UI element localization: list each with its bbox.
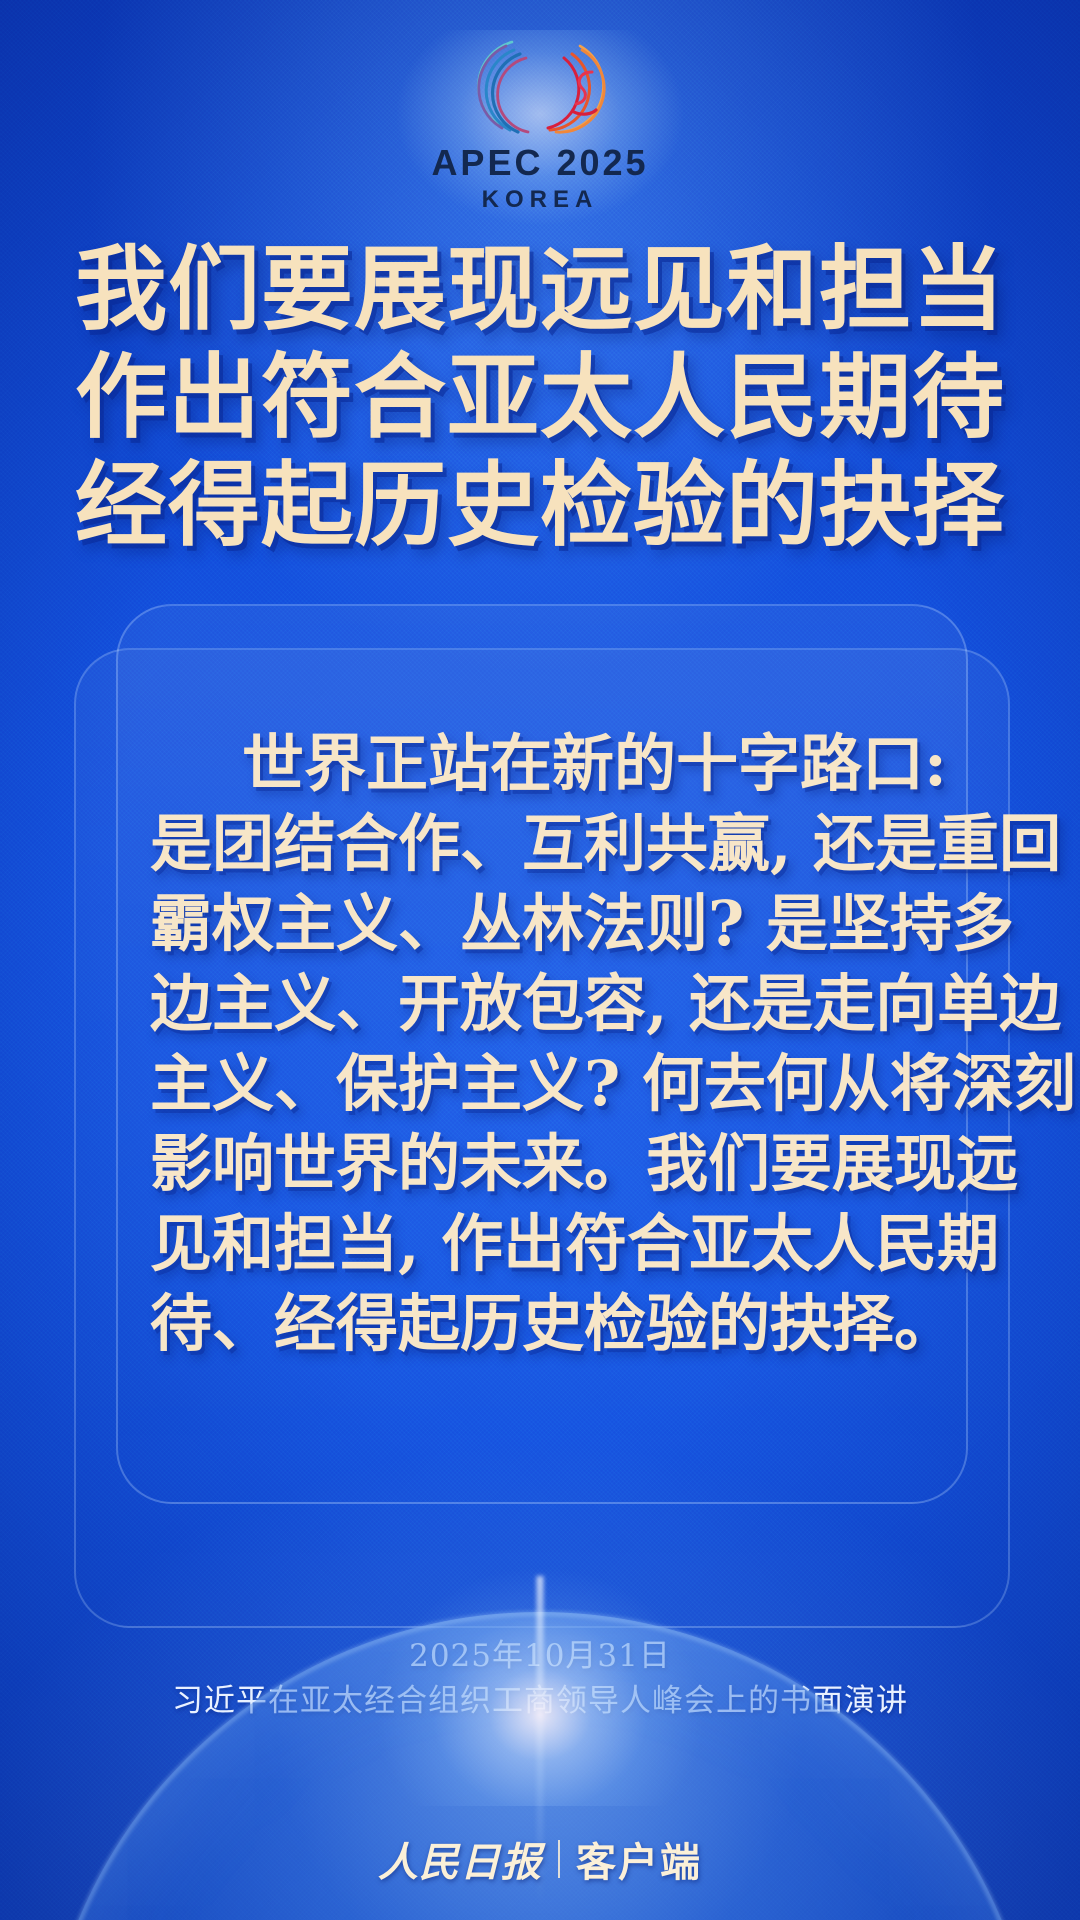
quote-line-6: 影响世界的未来。我们要展现远 [150,1124,940,1204]
quote-line-3: 霸权主义、丛林法则? 是坚持多 [150,884,940,964]
quote-text-block: 世界正站在新的十字路口: 是团结合作、互利共赢, 还是重回 霸权主义、丛林法则?… [150,724,940,1364]
quote-line-8: 待、经得起历史检验的抉择。 [150,1284,940,1364]
logo-title: APEC 2025 [431,142,648,184]
page-title: 我们要展现远见和担当 作出符合亚太人民期待 经得起历史检验的抉择 [0,236,1080,560]
logo-subtitle: KOREA [482,186,599,214]
quote-line-4: 边主义、开放包容, 还是走向单边 [150,964,940,1044]
quote-line-5: 主义、保护主义? 何去何从将深刻 [150,1044,940,1124]
quote-line-1: 世界正站在新的十字路口: [150,724,940,804]
headline-line-1: 我们要展现远见和担当 [0,236,1080,344]
headline-line-2: 作出符合亚太人民期待 [0,344,1080,452]
quote-line-2: 是团结合作、互利共赢, 还是重回 [150,804,940,884]
apec-logo-block: APEC 2025 KOREA [0,28,1080,214]
speech-source: 习近平在亚太经合组织工商领导人峰会上的书面演讲 [0,1678,1080,1724]
publisher-name: 人民日报 [378,1830,542,1888]
attribution-block: 2025年10月31日 习近平在亚太经合组织工商领导人峰会上的书面演讲 [0,1634,1080,1724]
app-name: 客户端 [576,1830,702,1888]
footer-divider [558,1840,560,1878]
apec-logo-arcs-icon [440,28,640,138]
headline-line-3: 经得起历史检验的抉择 [0,452,1080,560]
footer-logo: 人民日报 客户端 [0,1830,1080,1888]
poster-canvas: APEC 2025 KOREA 我们要展现远见和担当 作出符合亚太人民期待 经得… [0,0,1080,1920]
apec-logo-mark [440,28,640,138]
speech-date: 2025年10月31日 [0,1634,1080,1678]
quote-line-7: 见和担当, 作出符合亚太人民期 [150,1204,940,1284]
